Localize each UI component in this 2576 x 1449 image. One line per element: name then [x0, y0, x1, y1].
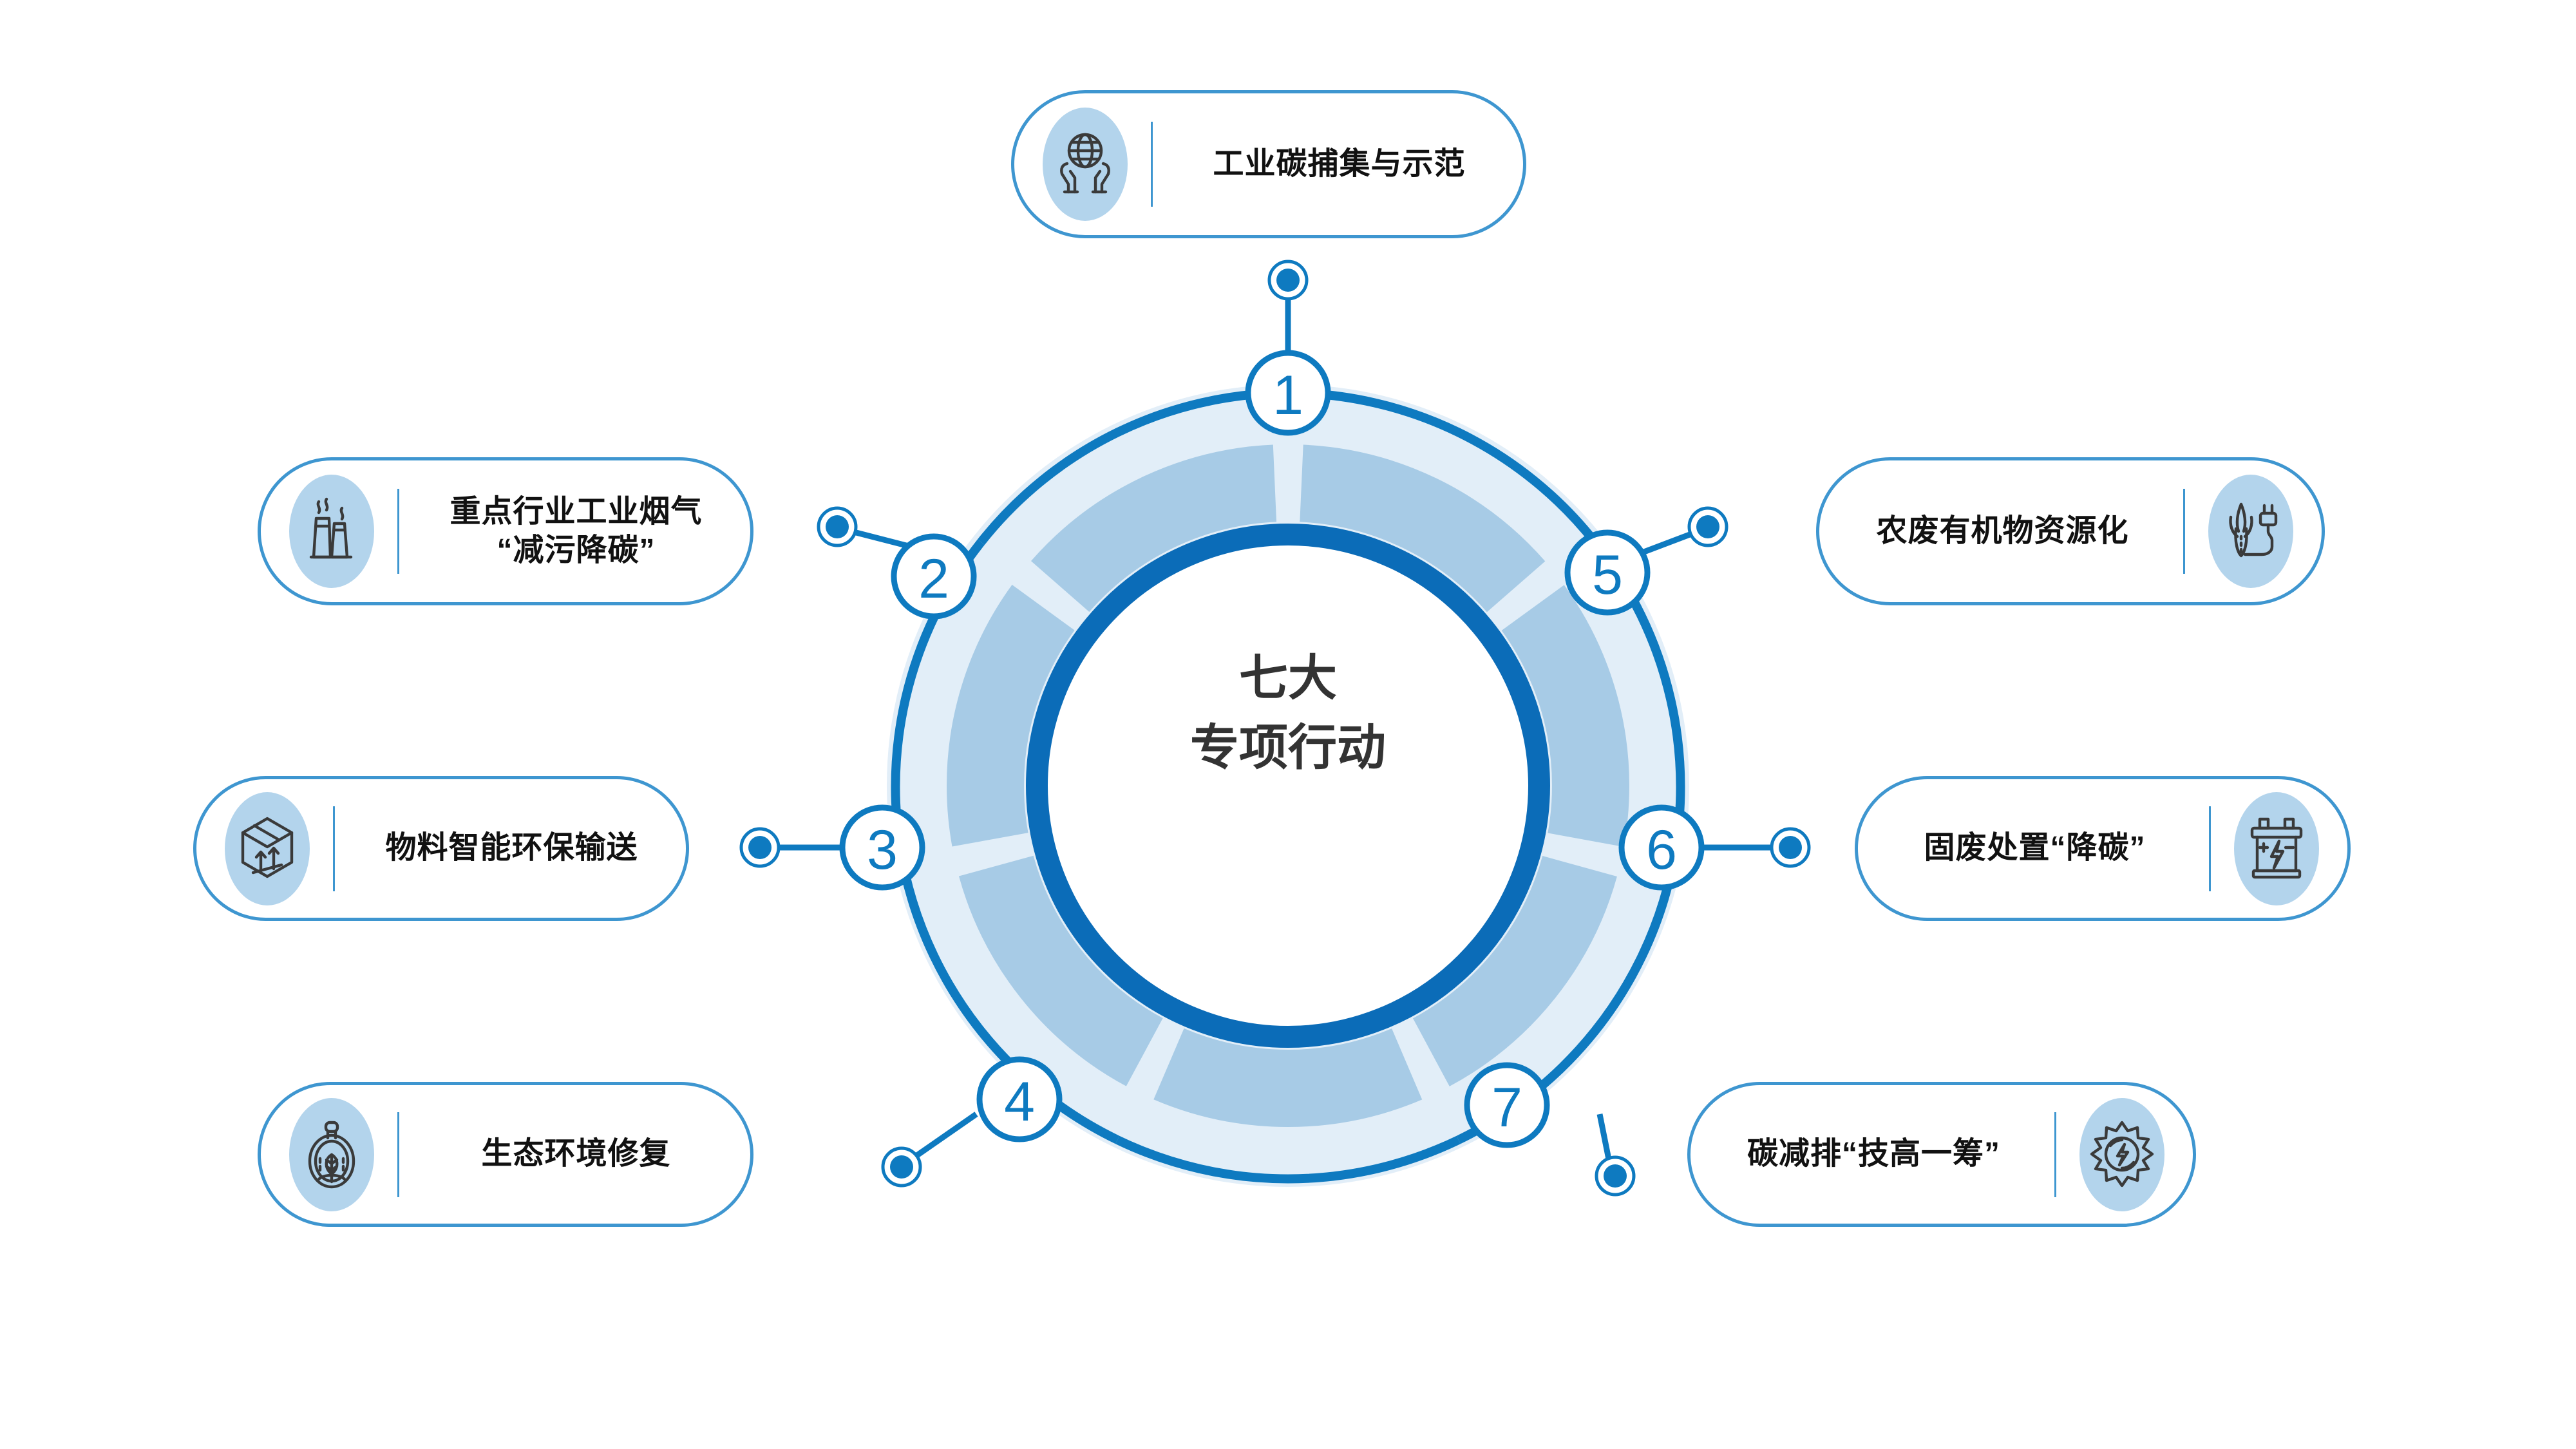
- card-label-2: 重点行业工业烟气 “减污降碳”: [421, 493, 731, 571]
- node-1[interactable]: 1: [1248, 353, 1328, 433]
- card-label-3: 物料智能环保输送: [357, 829, 667, 867]
- card-divider: [333, 806, 335, 891]
- card-label-6: 固废处置“降碳”: [1880, 829, 2190, 867]
- globe-in-hands-icon: [1043, 108, 1128, 221]
- card-agri-waste-resource[interactable]: 农废有机物资源化: [1816, 457, 2325, 605]
- smokestack-icon: [289, 475, 374, 588]
- node-3[interactable]: 3: [842, 808, 922, 887]
- card-divider: [397, 489, 399, 574]
- card-industrial-flue-gas[interactable]: 重点行业工业烟气 “减污降碳”: [258, 457, 753, 605]
- node-7-number: 7: [1492, 1077, 1522, 1139]
- node-2[interactable]: 2: [894, 536, 974, 616]
- card-divider: [1151, 122, 1153, 207]
- node-6[interactable]: 6: [1622, 808, 1701, 887]
- card-industrial-carbon-capture[interactable]: 工业碳捕集与示范: [1011, 90, 1526, 238]
- card-label-5: 农废有机物资源化: [1841, 512, 2164, 551]
- corn-plug-icon: [2208, 475, 2293, 588]
- card-label-1: 工业碳捕集与示范: [1175, 145, 1504, 184]
- node-5-number: 5: [1592, 544, 1623, 606]
- center-disc: [1048, 546, 1528, 1025]
- node-7[interactable]: 7: [1467, 1065, 1547, 1145]
- card-divider: [397, 1112, 399, 1197]
- node-5[interactable]: 5: [1567, 533, 1647, 612]
- card-carbon-reduction-technology[interactable]: 碳减排“技高一筹”: [1687, 1082, 2196, 1227]
- starburst-energy-icon: [2079, 1098, 2164, 1211]
- node-6-number: 6: [1646, 819, 1677, 881]
- node-2-number: 2: [918, 548, 949, 610]
- center-title: 七大 专项行动: [1108, 644, 1468, 783]
- card-divider: [2054, 1112, 2056, 1197]
- node-4-number: 4: [1004, 1071, 1035, 1133]
- node-3-number: 3: [867, 819, 898, 881]
- card-ecological-restoration[interactable]: 生态环境修复: [258, 1082, 753, 1227]
- card-label-7: 碳减排“技高一筹”: [1712, 1135, 2035, 1173]
- flask-leaf-icon: [289, 1098, 374, 1211]
- card-smart-material-transport[interactable]: 物料智能环保输送: [193, 776, 689, 921]
- battery-bolt-icon: [2234, 792, 2319, 905]
- card-divider: [2183, 489, 2185, 574]
- node-4[interactable]: 4: [980, 1059, 1059, 1139]
- card-divider: [2209, 806, 2211, 891]
- infographic-canvas: 1 2 3 4 5 6 7: [0, 0, 2576, 1449]
- card-label-4: 生态环境修复: [421, 1135, 731, 1173]
- node-1-number: 1: [1273, 365, 1303, 426]
- card-solid-waste-decarbonization[interactable]: 固废处置“降碳”: [1855, 776, 2351, 921]
- package-arrows-icon: [225, 792, 310, 905]
